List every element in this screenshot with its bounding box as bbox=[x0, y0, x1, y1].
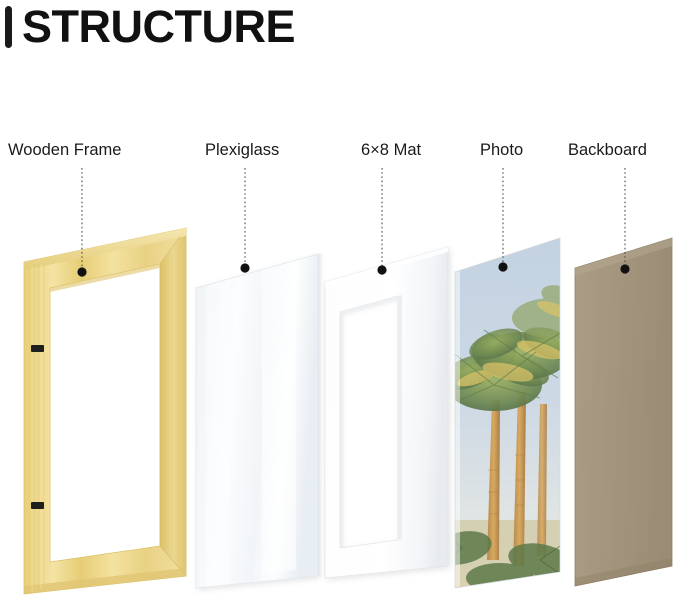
frame-hardware-tab-lower bbox=[31, 502, 44, 509]
callout-dot-photo bbox=[498, 262, 507, 271]
layer-wooden-frame bbox=[24, 228, 186, 594]
callout-dot-backboard bbox=[620, 264, 629, 273]
label-photo: Photo bbox=[480, 140, 523, 160]
label-backboard: Backboard bbox=[568, 140, 647, 160]
callout-dot-plexiglass bbox=[240, 263, 249, 272]
layer-photo bbox=[429, 238, 594, 600]
layer-plexiglass bbox=[196, 253, 322, 588]
callout-dot-wooden-frame bbox=[77, 267, 86, 276]
frame-hardware-tab-upper bbox=[31, 345, 44, 352]
label-mat: 6×8 Mat bbox=[361, 140, 421, 160]
callout-dot-mat bbox=[377, 265, 386, 274]
label-plexiglass: Plexiglass bbox=[205, 140, 279, 160]
label-wooden-frame: Wooden Frame bbox=[8, 140, 121, 160]
layer-backboard bbox=[575, 238, 672, 586]
exploded-view-diagram bbox=[0, 0, 679, 607]
layer-mat bbox=[325, 247, 448, 578]
